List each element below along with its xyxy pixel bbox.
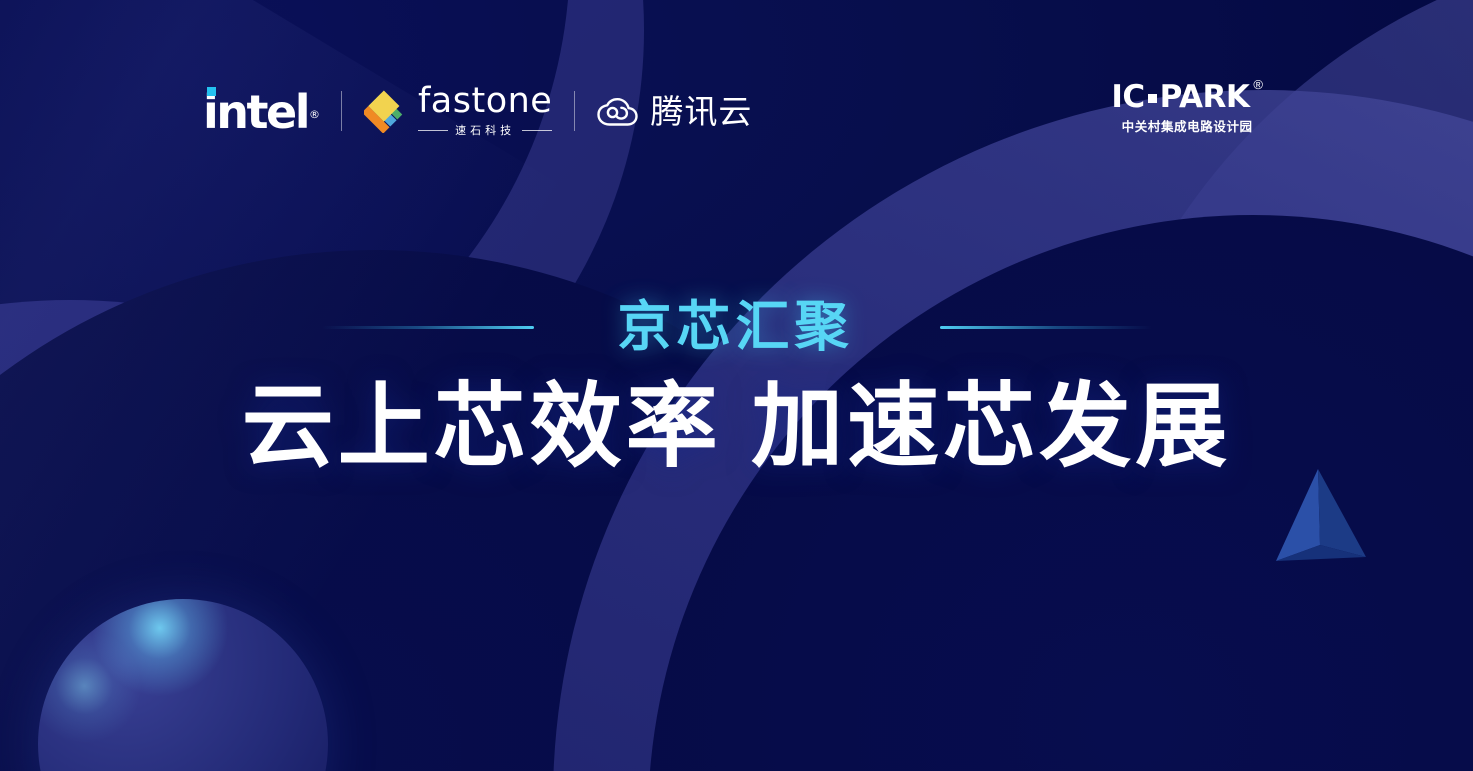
event-title: 云上芯效率 加速芯发展 <box>0 376 1473 479</box>
ic-park-square-icon <box>1148 94 1157 103</box>
intel-logo: intel® <box>203 87 319 135</box>
partner-logo-group: intel® fastone <box>203 80 752 142</box>
logo-divider <box>341 91 342 131</box>
intel-dot-icon <box>207 87 216 96</box>
fastone-wordmark: fastone <box>418 84 552 119</box>
cloud-icon <box>597 95 639 127</box>
logo-divider-2 <box>574 91 575 131</box>
intel-wordmark: intel <box>203 85 308 139</box>
fastone-diamond-icon <box>364 89 408 133</box>
subtitle-row: 京芯汇聚 <box>0 284 1473 370</box>
tencent-cloud-logo: 腾讯云 <box>597 95 752 128</box>
decor-rule-right <box>940 326 1152 329</box>
ic-park-chinese-name: 中关村集成电路设计园 <box>1122 116 1253 135</box>
decor-rule-left <box>322 326 534 329</box>
intel-registered-mark: ® <box>309 108 320 121</box>
poster-canvas: intel® fastone <box>0 0 1473 771</box>
fastone-text-block: fastone 速石科技 <box>418 84 552 138</box>
ic-park-top-row: IC PARK ® <box>1111 82 1263 113</box>
ic-park-logo: IC PARK ® 中关村集成电路设计园 <box>1111 82 1263 135</box>
fastone-subtitle-row: 速石科技 <box>418 122 552 138</box>
logo-bar: intel® fastone <box>0 80 1473 142</box>
event-subtitle: 京芯汇聚 <box>618 300 854 354</box>
ic-park-word-right: PARK <box>1160 82 1250 113</box>
fastone-logo: fastone 速石科技 <box>364 84 552 138</box>
tetrahedron-shape <box>1262 465 1374 577</box>
ic-park-registered-mark: ® <box>1253 78 1263 91</box>
ic-park-word-left: IC <box>1111 82 1144 113</box>
fastone-rule-right <box>522 130 552 131</box>
fastone-rule-left <box>418 130 448 131</box>
ic-park-wordmark: IC PARK <box>1111 82 1249 113</box>
headline-block: 京芯汇聚 云上芯效率 加速芯发展 <box>0 284 1473 479</box>
fastone-chinese-name: 速石科技 <box>455 122 515 138</box>
tencent-cloud-wordmark: 腾讯云 <box>650 95 752 128</box>
